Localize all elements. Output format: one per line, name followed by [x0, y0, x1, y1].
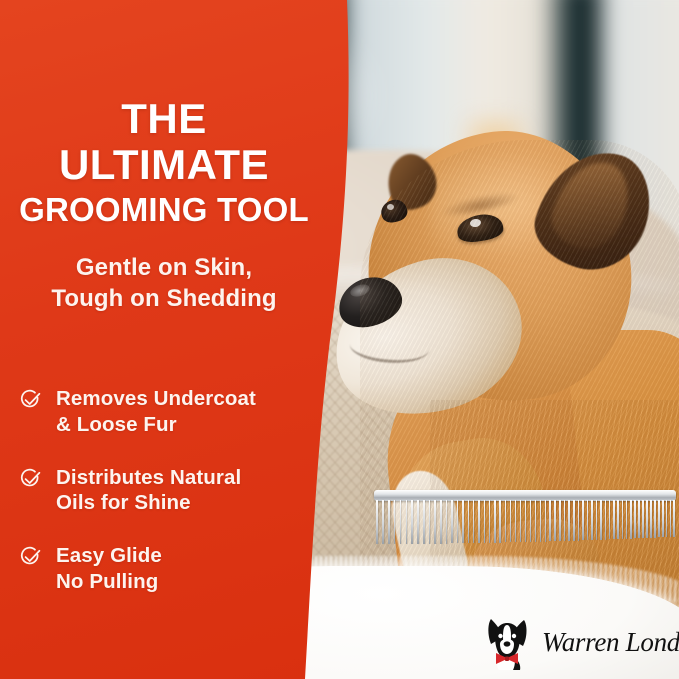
list-item: Easy Glide No Pulling: [20, 543, 320, 595]
comb-tooth: [525, 500, 527, 542]
comb-tooth: [564, 500, 566, 541]
comb-tooth: [382, 500, 384, 544]
comb-tooth: [429, 500, 431, 544]
comb-tooth: [494, 500, 496, 543]
comb-tooth: [473, 500, 475, 543]
comb-tooth: [451, 500, 453, 543]
comb-tooth: [515, 500, 517, 542]
check-circle-icon: [20, 546, 42, 568]
comb-tooth: [605, 500, 607, 540]
subheadline-line-1: Gentle on Skin,: [0, 252, 328, 283]
comb-tooth: [622, 500, 624, 539]
comb-tooth: [446, 500, 448, 544]
comb-tooth: [634, 500, 636, 538]
comb-tooth: [600, 500, 602, 540]
comb-tooth: [417, 500, 419, 544]
comb-tooth: [559, 500, 561, 541]
comb-tooth: [423, 500, 425, 544]
comb-tooth: [591, 500, 593, 540]
comb-tooth: [654, 500, 656, 538]
comb-tooth: [535, 500, 537, 542]
comb-tooth: [573, 500, 575, 541]
bullet-2-line-1: Distributes Natural: [56, 465, 241, 491]
comb-tooth: [638, 500, 640, 538]
comb-tooth: [388, 500, 390, 544]
list-item-label: Removes Undercoat & Loose Fur: [56, 386, 256, 438]
feature-list: Removes Undercoat & Loose Fur Distribute…: [20, 386, 320, 622]
dog-eye-left-highlight: [387, 204, 394, 210]
check-circle-icon: [20, 468, 42, 490]
comb-tooth: [510, 500, 512, 542]
list-item-label: Distributes Natural Oils for Shine: [56, 465, 241, 517]
bullet-1-line-1: Removes Undercoat: [56, 386, 256, 412]
brand-wordmark: Warren London™: [542, 627, 679, 658]
comb-tooth: [617, 500, 619, 539]
brand-logo: Warren London™: [482, 614, 679, 670]
comb-tooth: [568, 500, 570, 541]
comb-tooth: [540, 500, 542, 542]
comb-tooth: [468, 500, 470, 543]
comb-tooth: [499, 500, 501, 543]
comb-tooth: [530, 500, 532, 542]
headline-line-1: THE: [0, 98, 328, 140]
comb-tooth: [646, 500, 648, 538]
list-item-label: Easy Glide No Pulling: [56, 543, 162, 595]
comb-tooth: [478, 500, 480, 543]
headline-line-3: GROOMING TOOL: [0, 193, 328, 226]
comb-tooth: [658, 500, 660, 537]
comb-tooth: [505, 500, 507, 542]
comb-tooth: [489, 500, 491, 543]
product-marketing-image: THE ULTIMATE GROOMING TOOL Gentle on Ski…: [0, 0, 679, 679]
comb-tooth: [554, 500, 556, 541]
subheadline: Gentle on Skin, Tough on Shedding: [0, 252, 328, 314]
list-item: Distributes Natural Oils for Shine: [20, 465, 320, 517]
comb-tooth: [596, 500, 598, 540]
comb-tooth: [642, 500, 644, 538]
comb-tooth: [462, 500, 464, 543]
comb-tooth: [400, 500, 402, 544]
comb-tooth: [484, 500, 486, 543]
comb-tooth: [520, 500, 522, 542]
comb-tooth: [666, 500, 668, 537]
comb-tooth: [662, 500, 664, 537]
check-circle-icon: [20, 389, 42, 411]
comb-tooth: [609, 500, 611, 539]
comb-tooth: [670, 500, 672, 537]
comb-tooth: [406, 500, 408, 544]
bullet-3-line-1: Easy Glide: [56, 543, 162, 569]
comb-tooth: [630, 500, 632, 539]
comb-tooth: [394, 500, 396, 544]
comb-teeth: [376, 500, 674, 546]
bullet-2-line-2: Oils for Shine: [56, 490, 241, 516]
comb-tooth: [582, 500, 584, 540]
comb-tooth: [434, 500, 436, 544]
comb-tooth: [673, 500, 675, 537]
comb-tooth: [457, 500, 459, 543]
comb-tooth: [549, 500, 551, 541]
bullet-1-line-2: & Loose Fur: [56, 412, 256, 438]
boston-terrier-head-icon: [482, 614, 534, 670]
comb-tooth: [440, 500, 442, 544]
subheadline-line-2: Tough on Shedding: [0, 283, 328, 314]
brand-wordmark-text: Warren London: [542, 627, 679, 657]
headline-line-2: ULTIMATE: [0, 144, 328, 186]
panel-content: THE ULTIMATE GROOMING TOOL Gentle on Ski…: [0, 0, 330, 679]
list-item: Removes Undercoat & Loose Fur: [20, 386, 320, 438]
comb-tooth: [650, 500, 652, 538]
grooming-comb: [374, 490, 676, 550]
comb-tooth: [613, 500, 615, 539]
comb-tooth: [626, 500, 628, 539]
page-title: THE ULTIMATE GROOMING TOOL: [0, 98, 328, 226]
comb-tooth: [411, 500, 413, 544]
comb-tooth: [578, 500, 580, 541]
comb-tooth: [587, 500, 589, 540]
bullet-3-line-2: No Pulling: [56, 569, 162, 595]
comb-tooth: [545, 500, 547, 542]
comb-tooth: [376, 500, 378, 544]
